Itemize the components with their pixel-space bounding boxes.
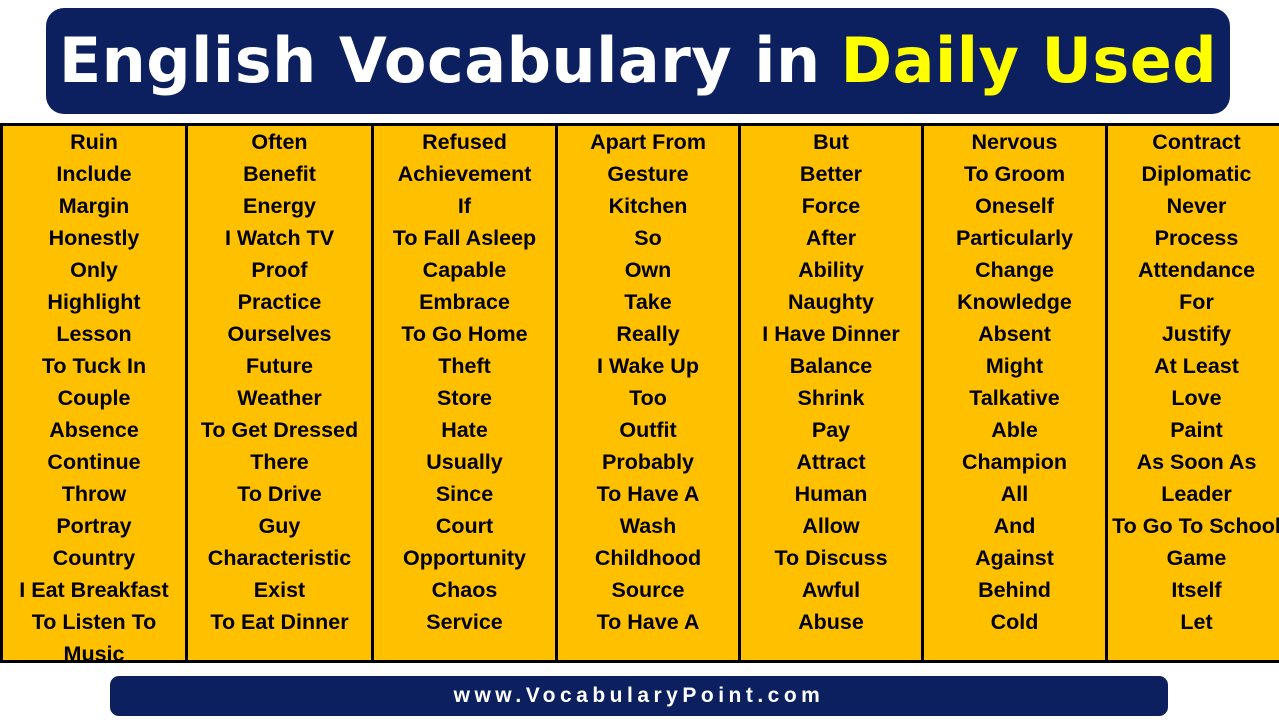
vocabulary-word: Justify [1162,318,1231,350]
vocabulary-word: Country [53,542,135,574]
vocabulary-word: Margin [59,190,129,222]
vocabulary-word: Love [1171,382,1221,414]
vocabulary-word: Abuse [798,606,864,638]
vocabulary-word: Only [70,254,118,286]
vocabulary-word: To Listen To Music [7,606,181,660]
vocabulary-word: Often [251,126,307,158]
vocabulary-word: Allow [802,510,859,542]
vocabulary-word: Really [616,318,679,350]
vocabulary-word: Refused [422,126,507,158]
website-url: www.VocabularyPoint.com [454,684,825,708]
vocabulary-word: As Soon As [1137,446,1257,478]
vocabulary-word: Benefit [243,158,316,190]
vocabulary-word: Contract [1152,126,1240,158]
vocabulary-word: Wash [620,510,677,542]
vocabulary-word: To Tuck In [42,350,146,382]
vocabulary-word: Shrink [798,382,865,414]
vocabulary-word: I Have Dinner [762,318,899,350]
vocabulary-word: To Have A [597,606,700,638]
vocabulary-word: Hate [441,414,488,446]
vocabulary-word: Change [975,254,1054,286]
vocabulary-word: Lesson [56,318,131,350]
vocabulary-word: Force [802,190,861,222]
vocabulary-word: So [634,222,661,254]
vocabulary-word: To Groom Oneself [928,158,1101,222]
vocabulary-word: To Get Dressed [201,414,358,446]
vocabulary-word: Guy [259,510,301,542]
vocabulary-word: I Watch TV [225,222,334,254]
vocabulary-word: Gesture [607,158,688,190]
vocabulary-word: Usually [426,446,502,478]
vocabulary-word: Particularly [956,222,1073,254]
vocabulary-word: To Go To School [1112,510,1279,542]
word-column-3: RefusedAchievementIfTo Fall AsleepCapabl… [374,126,558,660]
vocabulary-word: Couple [58,382,131,414]
vocabulary-word: At Least [1154,350,1239,382]
vocabulary-word: Store [437,382,492,414]
vocabulary-word: Attendance [1138,254,1255,286]
vocabulary-word: Balance [790,350,872,382]
vocabulary-word: Source [612,574,685,606]
vocabulary-word: Paint [1170,414,1223,446]
vocabulary-word: To Have A [597,478,700,510]
vocabulary-word: Childhood [595,542,701,574]
vocabulary-word: Behind [978,574,1051,606]
vocabulary-word: Since [436,478,493,510]
vocabulary-word: Service [426,606,503,638]
page-title-highlight: Daily Used [841,30,1218,92]
vocabulary-word: Cold [991,606,1039,638]
vocabulary-word: To Discuss [774,542,887,574]
footer-bar: www.VocabularyPoint.com [110,676,1168,716]
vocabulary-word: Awful [802,574,860,606]
vocabulary-word: Take [624,286,671,318]
vocabulary-word: To Go Home [401,318,527,350]
vocabulary-word: Ruin [70,126,118,158]
vocabulary-word: Practice [238,286,322,318]
vocabulary-word: Absence [49,414,139,446]
vocabulary-word: But [813,126,849,158]
vocabulary-word: Too [629,382,667,414]
vocabulary-word: Future [246,350,313,382]
vocabulary-word: Apart From [590,126,706,158]
vocabulary-word: Leader [1161,478,1232,510]
vocabulary-word: Against [975,542,1054,574]
vocabulary-word: Achievement [398,158,532,190]
vocabulary-word: Include [56,158,131,190]
vocabulary-word: Throw [62,478,127,510]
vocabulary-word: There [250,446,309,478]
vocabulary-word: Nervous [971,126,1057,158]
vocabulary-word: Court [436,510,493,542]
vocabulary-word: To Eat Dinner [210,606,348,638]
vocabulary-word: Able [991,414,1038,446]
vocabulary-word: Continue [47,446,140,478]
vocabulary-word: Talkative [969,382,1059,414]
vocabulary-word: If [458,190,471,222]
vocabulary-word: Ability [798,254,864,286]
vocabulary-word: And [994,510,1036,542]
vocabulary-word: Weather [237,382,321,414]
vocabulary-word: To Drive [237,478,321,510]
vocabulary-word: Chaos [432,574,498,606]
vocabulary-word: Characteristic [208,542,351,574]
vocabulary-word: Honestly [49,222,140,254]
vocabulary-word: Own [625,254,672,286]
vocabulary-word: Kitchen [609,190,688,222]
vocabulary-word: Might [986,350,1043,382]
word-column-2: OftenBenefitEnergyI Watch TVProofPractic… [188,126,374,660]
vocabulary-table: RuinIncludeMarginHonestlyOnlyHighlightLe… [0,123,1279,663]
word-column-5: ButBetterForceAfterAbilityNaughtyI Have … [741,126,924,660]
vocabulary-word: Naughty [788,286,874,318]
vocabulary-word: Never [1167,190,1227,222]
vocabulary-word: After [806,222,856,254]
word-column-7: ContractDiplomaticNeverProcessAttendance… [1108,126,1279,660]
vocabulary-word: Let [1180,606,1212,638]
vocabulary-word: Capable [423,254,507,286]
vocabulary-word: Highlight [47,286,140,318]
vocabulary-word: I Wake Up [597,350,699,382]
header-banner: English Vocabulary in Daily Used [46,8,1230,114]
word-column-4: Apart FromGestureKitchenSoOwnTakeReallyI… [558,126,741,660]
vocabulary-word: Energy [243,190,316,222]
vocabulary-word: Knowledge [957,286,1072,318]
vocabulary-word: For [1179,286,1214,318]
vocabulary-word: Diplomatic [1142,158,1252,190]
vocabulary-word: Embrace [419,286,510,318]
vocabulary-word: Human [795,478,868,510]
vocabulary-word: Portray [56,510,131,542]
vocabulary-word: I Eat Breakfast [19,574,168,606]
vocabulary-word: Exist [254,574,305,606]
vocabulary-word: Champion [962,446,1067,478]
vocabulary-word: Outfit [619,414,676,446]
vocabulary-word: Game [1167,542,1227,574]
vocabulary-word: Pay [812,414,850,446]
vocabulary-word: Itself [1171,574,1221,606]
vocabulary-word: Attract [796,446,865,478]
page-title: English Vocabulary in Daily Used [59,30,1217,92]
vocabulary-word: Probably [602,446,694,478]
vocabulary-word: Process [1155,222,1239,254]
vocabulary-word: All [1001,478,1028,510]
page-title-primary: English Vocabulary in [59,30,821,92]
vocabulary-word: Opportunity [403,542,526,574]
vocabulary-word: Theft [438,350,491,382]
word-column-1: RuinIncludeMarginHonestlyOnlyHighlightLe… [3,126,188,660]
vocabulary-word: Absent [978,318,1051,350]
vocabulary-word: To Fall Asleep [393,222,536,254]
vocabulary-word: Ourselves [228,318,332,350]
vocabulary-word: Better [800,158,862,190]
word-column-6: NervousTo Groom OneselfParticularlyChang… [924,126,1108,660]
vocabulary-word: Proof [251,254,307,286]
